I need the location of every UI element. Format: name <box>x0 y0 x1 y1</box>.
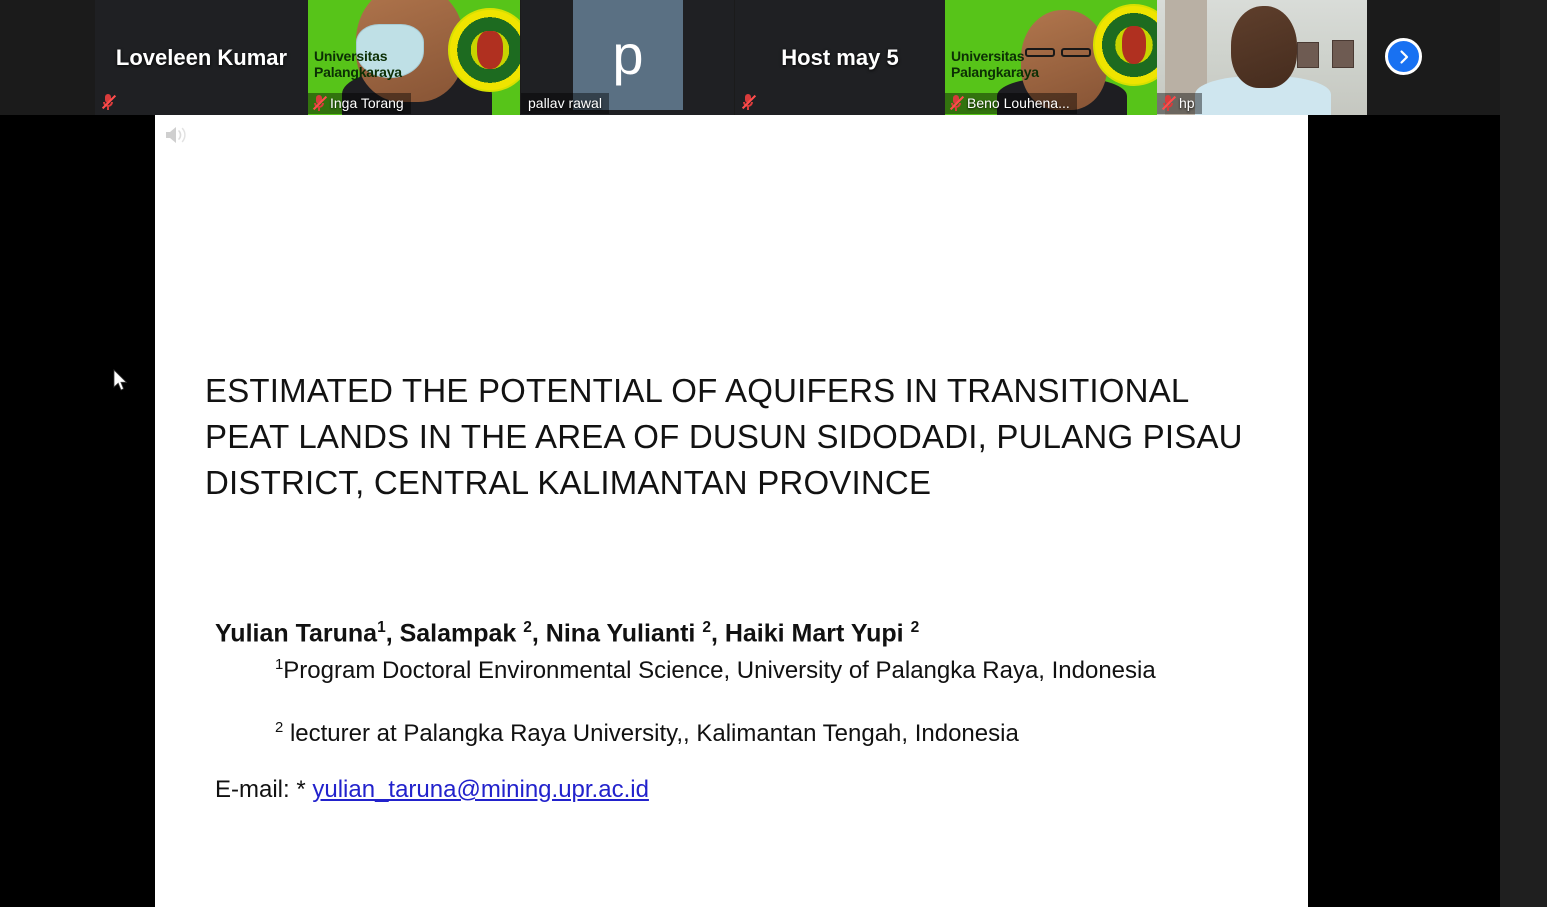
participant-name-center: Host may 5 <box>735 45 945 71</box>
participant-filmstrip: Loveleen Kumar UniversitasPalangkaraya I… <box>0 0 1500 115</box>
wall-frame <box>1297 42 1319 68</box>
slide-affiliation-2: 2 lecturer at Palangka Raya University,,… <box>275 713 1188 749</box>
participant-tile-beno-louhena[interactable]: UniversitasPalangkaraya Beno Louhena... <box>945 0 1157 115</box>
virtual-background-label: UniversitasPalangkaraya <box>314 48 402 80</box>
mouse-pointer-icon <box>113 369 129 392</box>
mic-muted-icon <box>101 93 115 111</box>
participant-tile-loveleen-kumar[interactable]: Loveleen Kumar <box>95 0 308 115</box>
slide-email-line: E-mail: * yulian_taruna@mining.upr.ac.id <box>215 775 1248 805</box>
right-sidebar <box>1500 0 1547 907</box>
slide-affiliation-1: 1Program Doctoral Environmental Science,… <box>275 650 1188 686</box>
participant-tile-hp[interactable]: hp <box>1157 0 1367 115</box>
virtual-background-label: UniversitasPalangkaraya <box>951 48 1039 80</box>
email-link[interactable]: yulian_taruna@mining.upr.ac.id <box>312 776 649 803</box>
participant-tile-pallav-rawal[interactable]: p pallav rawal <box>521 0 734 115</box>
participant-name-label: Beno Louhena... <box>945 93 1077 114</box>
wall-frame <box>1332 40 1354 68</box>
slide-title: ESTIMATED THE POTENTIAL OF AQUIFERS IN T… <box>205 368 1258 506</box>
person-head <box>1231 6 1297 88</box>
screen-share-stage: ESTIMATED THE POTENTIAL OF AQUIFERS IN T… <box>0 115 1500 907</box>
chevron-right-icon <box>1396 49 1412 65</box>
participant-name-label: Inga Torang <box>308 93 411 114</box>
zoom-meeting-window: Loveleen Kumar UniversitasPalangkaraya I… <box>0 0 1547 907</box>
participant-tile-host-may-5[interactable]: Host may 5 <box>735 0 945 115</box>
speaker-volume-icon <box>163 123 191 147</box>
slide-authors: Yulian Taruna1, Salampak 2, Nina Yuliant… <box>215 611 1248 650</box>
participant-tile-inga-torang[interactable]: UniversitasPalangkaraya Inga Torang <box>308 0 520 115</box>
participant-name-label: hp <box>1157 93 1202 114</box>
next-participants-button[interactable] <box>1385 38 1422 75</box>
email-label: E-mail: * <box>215 776 306 803</box>
participant-name-label: pallav rawal <box>521 93 609 114</box>
mic-muted-icon <box>741 93 755 111</box>
eyeglasses <box>1061 48 1091 57</box>
participant-name-center: Loveleen Kumar <box>95 45 308 71</box>
avatar-letter: p <box>612 27 643 83</box>
presentation-slide[interactable]: ESTIMATED THE POTENTIAL OF AQUIFERS IN T… <box>155 115 1308 907</box>
